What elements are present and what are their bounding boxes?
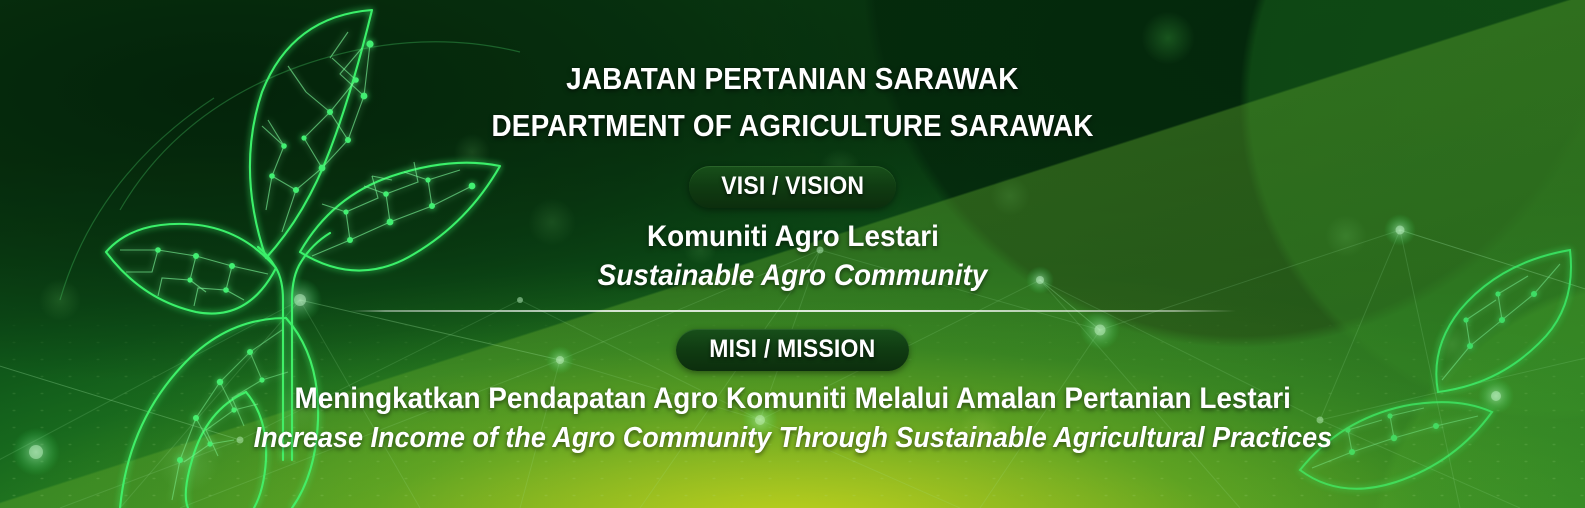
vision-text-bm: Komuniti Agro Lestari: [647, 220, 939, 254]
vision-mission-banner: JABATAN PERTANIAN SARAWAK DEPARTMENT OF …: [0, 0, 1585, 508]
section-divider: [350, 310, 1236, 312]
vision-badge: VISI / VISION: [689, 166, 896, 208]
mission-text-bm: Meningkatkan Pendapatan Agro Komuniti Me…: [294, 382, 1290, 416]
vision-badge-label: VISI / VISION: [721, 172, 864, 201]
vision-text-en: Sustainable Agro Community: [598, 259, 988, 293]
page-title-en: DEPARTMENT OF AGRICULTURE SARAWAK: [491, 105, 1093, 148]
banner-content: JABATAN PERTANIAN SARAWAK DEPARTMENT OF …: [0, 0, 1585, 508]
mission-text-en: Increase Income of the Agro Community Th…: [253, 422, 1332, 455]
mission-badge: MISI / MISSION: [676, 329, 909, 371]
page-title-bm: JABATAN PERTANIAN SARAWAK: [566, 58, 1018, 101]
mission-badge-label: MISI / MISSION: [709, 335, 875, 364]
